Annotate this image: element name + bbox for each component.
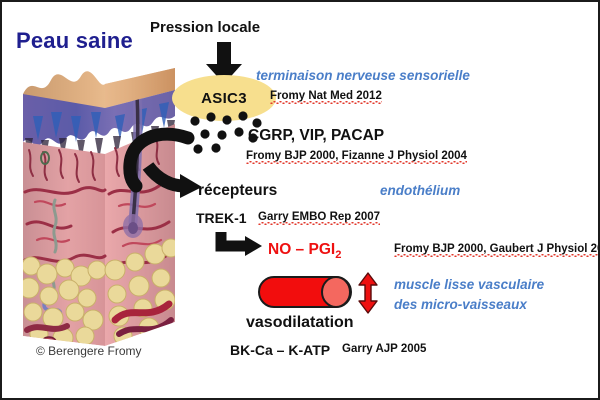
blood-vessel-icon <box>258 276 352 308</box>
skin-cross-section-icon <box>19 54 179 346</box>
receptor-name-label: TREK-1 <box>196 210 247 226</box>
citation-channels: Garry AJP 2005 <box>342 343 426 355</box>
citation-trek1-text: Garry EMBO Rep 2007 <box>258 211 380 223</box>
asic3-label: ASIC3 <box>201 90 247 107</box>
citation-trek1: Garry EMBO Rep 2007 <box>258 211 380 223</box>
citation-mediators-text: Fromy BJP 2000, Gaubert J Physiol 2007 <box>394 243 600 255</box>
smooth-muscle-label-line1: muscle lisse vasculaire <box>394 277 544 292</box>
citation-neuropeptides: Fromy BJP 2000, Fizanne J Physiol 2004 <box>246 150 467 162</box>
slide-canvas: Peau saine <box>0 0 600 400</box>
mediators-subscript: 2 <box>335 249 341 261</box>
citation-asic3: Fromy Nat Med 2012 <box>270 90 382 102</box>
neuropeptides-label: CGRP, VIP, PACAP <box>248 127 384 145</box>
page-title: Peau saine <box>16 28 133 54</box>
nerve-ending-label: terminaison nerveuse sensorielle <box>256 68 470 83</box>
citation-mediators: Fromy BJP 2000, Gaubert J Physiol 2007 <box>394 243 600 255</box>
curved-arrow-icon <box>118 130 204 196</box>
smooth-muscle-label-line2: des micro-vaisseaux <box>394 297 527 312</box>
citation-asic3-author: Fromy Nat Med 2012 <box>270 90 382 102</box>
effect-label: vasodilatation <box>246 314 354 332</box>
credit-label: © Berengere Fromy <box>36 344 142 358</box>
endothelium-label: endothélium <box>380 183 460 198</box>
stimulus-label: Pression locale <box>150 19 260 36</box>
channels-label: BK-Ca – K-ATP <box>230 342 330 358</box>
receptors-label: récepteurs <box>198 182 277 200</box>
citation-neuropeptides-text: Fromy BJP 2000, Fizanne J Physiol 2004 <box>246 150 467 162</box>
elbow-arrow-icon <box>214 232 264 260</box>
mediators-label: NO – PGI2 <box>268 241 341 261</box>
double-headed-arrow-icon <box>357 272 379 314</box>
mediators-text: NO – PGI <box>268 241 335 258</box>
